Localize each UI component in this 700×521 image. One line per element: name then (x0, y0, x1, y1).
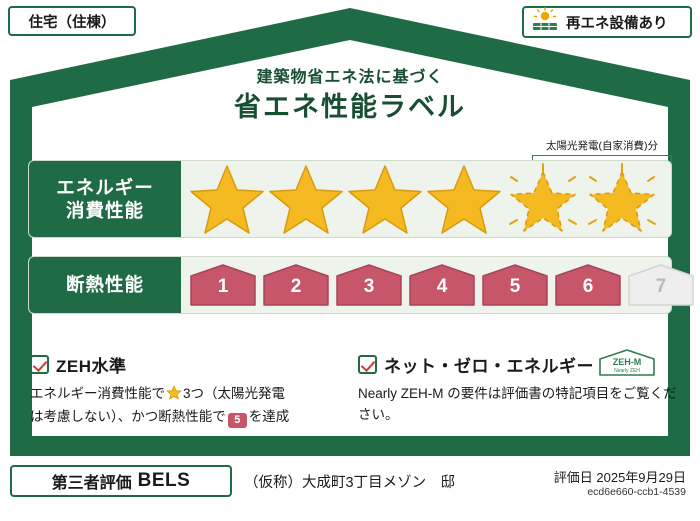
thermal-level-scale: 1 2 3 4 (189, 257, 695, 313)
energy-performance-label: 住宅（住棟） 再エネ設備あり (0, 0, 700, 521)
thermal-level-1: 1 (189, 263, 257, 307)
thermal-level-1-number: 1 (189, 276, 257, 298)
badge-house-type-label: 住宅（住棟） (29, 11, 116, 32)
thermal-level-7: 7 (627, 263, 695, 307)
energy-label-line2: 消費性能 (66, 199, 144, 222)
svg-text:ZEH-M: ZEH-M (613, 357, 642, 367)
evaluation-date-value: 2025年9月29日 (596, 470, 686, 485)
thermal-level-5-number: 5 (481, 276, 549, 298)
zeh-standard-body: エネルギー消費性能で3つ（太陽光発電は考慮しない）、かつ断熱性能で5を達成 (30, 384, 348, 428)
star-icon-solar-5 (505, 162, 581, 236)
star-icon-filled-4 (426, 162, 502, 236)
bels-label: BELS (138, 470, 191, 492)
star-icon-filled-2 (268, 162, 344, 236)
net-zero-energy-section: ネット・ゼロ・エネルギー ZEH-M Nearly ZEH Nearly ZEH… (358, 352, 678, 426)
building-address: （仮称）大成町3丁目メゾン 邸 (244, 471, 455, 492)
solar-bracket-label: 太陽光発電(自家消費)分 (528, 138, 676, 153)
thermal-level-3: 3 (335, 263, 403, 307)
evaluation-date: 評価日 2025年9月29日 (554, 467, 686, 486)
zeh-body-part3: は考慮しない）、かつ断熱性能で (30, 409, 226, 424)
thermal-level-5: 5 (481, 263, 549, 307)
net-zero-header: ネット・ゼロ・エネルギー ZEH-M Nearly ZEH (358, 352, 678, 377)
small-star-icon (166, 385, 182, 407)
evaluation-date-label: 評価日 (554, 470, 593, 485)
badge-solar-equipment: 再エネ設備あり (522, 6, 692, 38)
performance-panel: 太陽光発電(自家消費)分 エネルギー 消費性能 (28, 138, 672, 330)
zeh-standard-title: ZEH水準 (56, 352, 127, 377)
energy-performance-row: エネルギー 消費性能 (28, 160, 672, 238)
thermal-level-2: 2 (262, 263, 330, 307)
net-zero-title: ネット・ゼロ・エネルギー (384, 352, 594, 377)
zeh-body-part2: 3つ（太陽光発電 (183, 386, 285, 401)
energy-row-label: エネルギー 消費性能 (29, 161, 181, 237)
sun-panel-icon (530, 7, 560, 38)
zeh-standard-header: ZEH水準 (30, 352, 348, 377)
svg-text:Nearly ZEH: Nearly ZEH (614, 368, 640, 374)
star-icon-filled-3 (347, 162, 423, 236)
evaluation-code: ecd6e660-ccb1-4539 (587, 486, 686, 498)
thermal-level-6-number: 6 (554, 276, 622, 298)
page-title: 省エネ性能ラベル (0, 85, 700, 124)
thermal-level-3-number: 3 (335, 276, 403, 298)
zeh-standard-section: ZEH水準 エネルギー消費性能で3つ（太陽光発電は考慮しない）、かつ断熱性能で5… (30, 352, 348, 428)
net-zero-body: Nearly ZEH-M の要件は評価書の特記項目をご覧ください。 (358, 384, 678, 426)
thermal-level-6: 6 (554, 263, 622, 307)
thermal-level-4-number: 4 (408, 276, 476, 298)
badge-solar-label: 再エネ設備あり (566, 12, 668, 33)
zeh-body-part4: を達成 (249, 409, 290, 424)
bels-prefix-label: 第三者評価 (52, 469, 132, 493)
thermal-performance-row: 断熱性能 1 2 (28, 256, 672, 314)
checkbox-checked-icon (358, 355, 377, 374)
zeh-body-part1: エネルギー消費性能で (30, 386, 165, 401)
thermal-level-7-number: 7 (627, 276, 695, 298)
badge-house-type: 住宅（住棟） (8, 6, 136, 36)
checkbox-checked-icon (30, 355, 49, 374)
thermal-row-label: 断熱性能 (29, 257, 181, 313)
thermal-level-2-number: 2 (262, 276, 330, 298)
footer: 第三者評価 BELS （仮称）大成町3丁目メゾン 邸 評価日 2025年9月29… (0, 462, 700, 521)
energy-star-rating (189, 161, 660, 237)
star-icon-filled-1 (189, 162, 265, 236)
bels-certification-box: 第三者評価 BELS (10, 465, 232, 497)
zeh-m-logo-icon: ZEH-M Nearly ZEH (598, 349, 656, 377)
title-subtitle: 建築物省エネ法に基づく (0, 63, 700, 87)
thermal-label-text: 断熱性能 (66, 273, 144, 296)
thermal-level-4: 4 (408, 263, 476, 307)
energy-label-line1: エネルギー (56, 176, 154, 199)
star-icon-solar-6 (584, 162, 660, 236)
thermal-level-badge: 5 (228, 413, 247, 428)
